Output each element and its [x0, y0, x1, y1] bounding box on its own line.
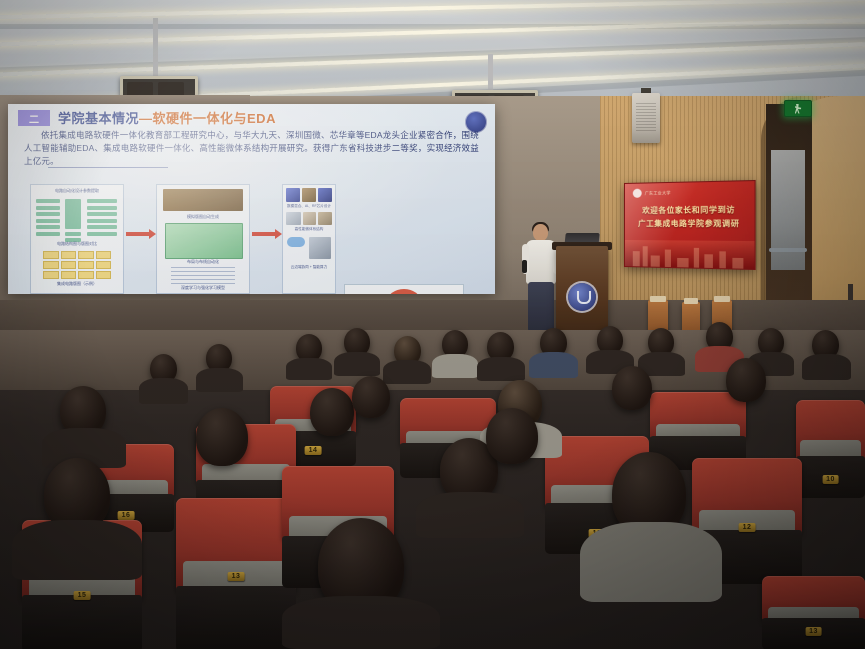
panel1-caption: 电路自动化设计参数提取 [31, 188, 123, 194]
seat-number: 14 [305, 446, 322, 455]
chip-layout-grid [43, 251, 111, 279]
presenter-head [533, 224, 548, 241]
welcome-banner: 广东工业大学 欢迎各位家长和同学到访 广工集成电路学院参观调研 [624, 180, 756, 270]
decor-stand-top [650, 296, 666, 302]
layout-thumbnail [163, 189, 243, 211]
slide-title-main: 学院基本情况 [58, 111, 139, 126]
emergency-exit-sign [784, 100, 812, 117]
flow-arrow [252, 232, 276, 236]
gdut-university-logo [568, 283, 596, 311]
seat-number: 13 [805, 627, 822, 636]
speaker-grille [636, 103, 656, 133]
national-emblem-seal [387, 289, 421, 294]
decor-stand-top [684, 298, 698, 304]
seat-number: 16 [118, 511, 135, 520]
seat-number: 13 [228, 572, 245, 581]
diagram-panel-two: 模拟版图自动生成 布局与布线自动化 深度学习与强化学习模型 [156, 184, 250, 294]
seat[interactable]: 13 [762, 576, 865, 649]
award-certificate: 广东省科技进步奖 证 书 [344, 284, 464, 294]
door-glass-panel [771, 150, 805, 270]
panel3-caption: 数模混合、AI、RF芯片设计 [283, 204, 335, 209]
presenter-trousers [528, 282, 554, 332]
diagram-panel-one: 电路自动化设计参数提取 电路结构图与版图对比 集成电路版图（示例） [30, 184, 124, 294]
panel2-caption: 布局与布线自动化 [157, 259, 249, 265]
placement-routing-image [165, 223, 243, 259]
slide-body-text: 依托集成电路软硬件一体化教育部工程研究中心，与华大九天、深圳国微、芯华章等EDA… [24, 129, 479, 169]
panel3-caption2: 高性能微体系结构 [283, 227, 335, 232]
running-person-icon [795, 104, 802, 114]
projection-screen: 二 学院基本情况—软硬件一体化与EDA 依托集成电路软硬件一体化教育部工程研究中… [8, 104, 495, 294]
lecture-hall-photo: 二 学院基本情况—软硬件一体化与EDA 依托集成电路软硬件一体化教育部工程研究中… [0, 0, 865, 649]
presenter-with-microphone [524, 224, 558, 332]
decor-stand [682, 302, 700, 332]
seat[interactable]: 13 [176, 498, 296, 649]
panel1-subcaption: 电路结构图与版图对比 [31, 241, 123, 247]
door-push-bar[interactable] [769, 248, 807, 252]
slide-section-badge: 二 [18, 110, 50, 126]
slide-title: 学院基本情况—软硬件一体化与EDA [58, 108, 276, 127]
flow-arrow [126, 232, 150, 236]
seat-number: 15 [74, 591, 91, 600]
handheld-microphone [522, 260, 527, 273]
panel1-chip-caption: 集成电路版图（示例） [31, 281, 123, 287]
slide-title-accent: —软硬件一体化与EDA [139, 111, 276, 126]
panel2-subcaption: 深度学习与强化学习模型 [157, 285, 249, 291]
panel3-caption3: 云边端协同 + 智能算力 [283, 265, 335, 270]
decor-stand-top [714, 296, 730, 302]
seat[interactable]: 10 [796, 400, 865, 496]
panel2-title: 模拟版图自动生成 [157, 214, 249, 220]
seat-number: 10 [822, 475, 839, 484]
diagram-panel-three: 数模混合、AI、RF芯片设计 高性能微体系结构 云边端协同 + 智能算力 [282, 184, 336, 294]
text-underline [48, 167, 168, 168]
seat-number: 12 [739, 523, 756, 532]
